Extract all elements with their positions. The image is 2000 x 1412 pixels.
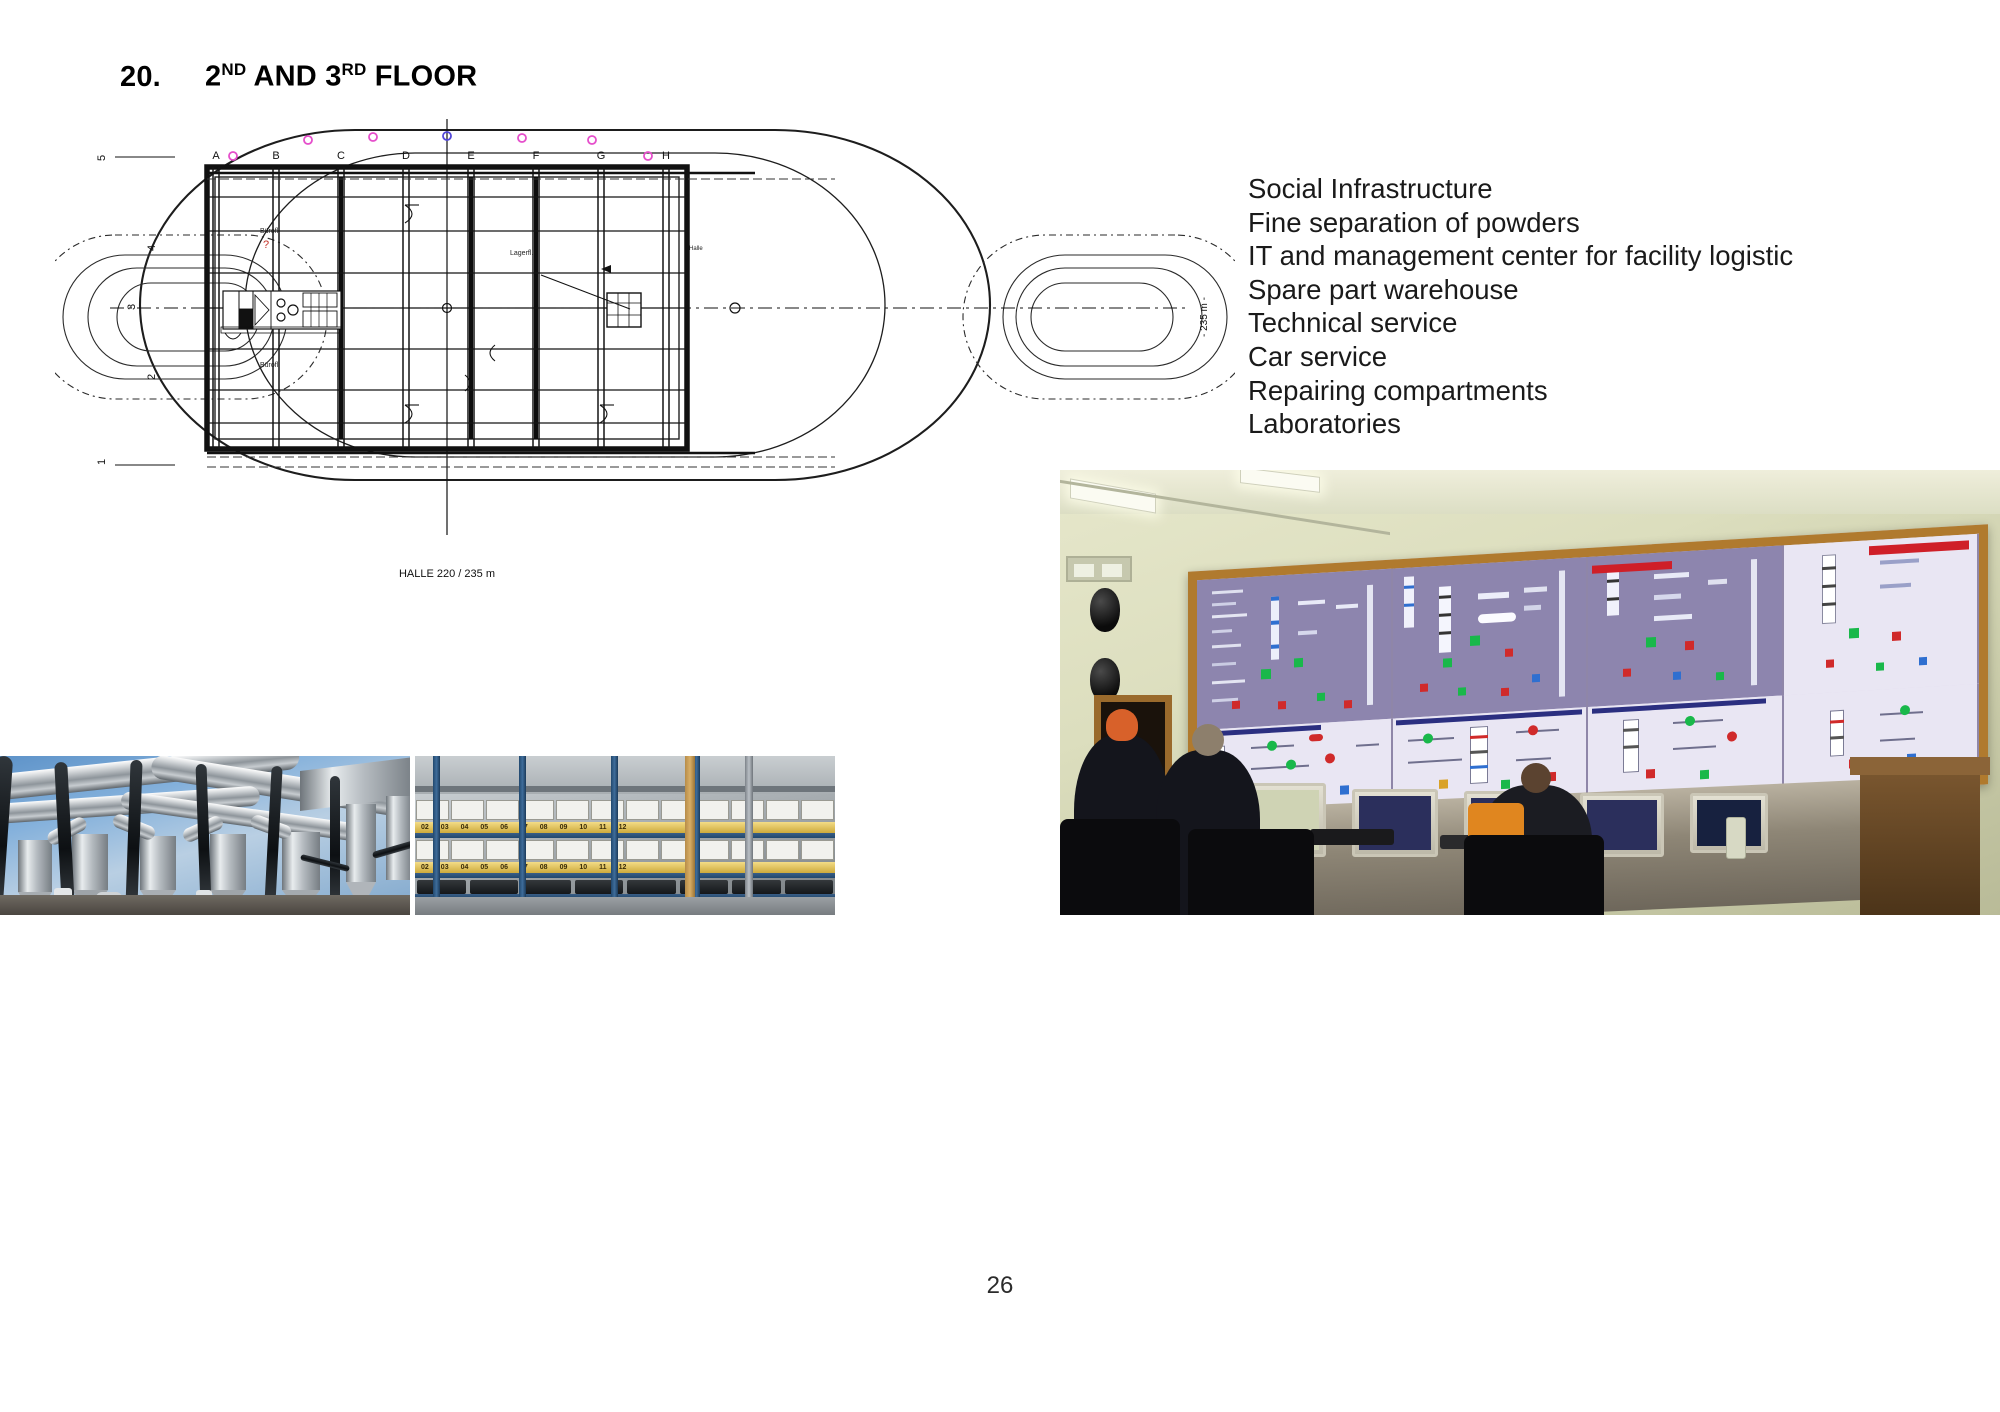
shelf-label: 02 (415, 864, 435, 871)
cyclone-body-6 (346, 804, 376, 882)
mimic-panel-1 (1197, 569, 1393, 731)
ground-surface (0, 895, 410, 915)
plan-vertical-dimension: - 235 m - (1199, 297, 1210, 337)
bin-card (486, 840, 519, 860)
svg-text:E: E (467, 150, 474, 162)
mimic-graphics-7 (1588, 696, 1782, 799)
shelf-label: 08 (534, 864, 554, 871)
page-title-conjunction: AND (246, 61, 325, 93)
bin-card (556, 800, 589, 820)
support-pipe-6 (330, 776, 340, 908)
page-title: 20.2ND AND 3RD FLOOR (120, 60, 477, 94)
bin-card (696, 800, 729, 820)
svg-text:Lagerfl.: Lagerfl. (510, 250, 533, 257)
bin-card (801, 800, 834, 820)
svg-text:C: C (337, 150, 345, 162)
bin-card (696, 840, 729, 860)
page-number: 26 (0, 1272, 2000, 1300)
shelf-label: 08 (534, 824, 554, 831)
svg-text:A: A (212, 150, 220, 162)
mimic-graphics-2 (1393, 557, 1587, 719)
mimic-graphics-1 (1197, 569, 1391, 731)
wall-speaker-1 (1090, 588, 1120, 632)
crate (785, 880, 834, 894)
feature-item-social-infrastructure: Social Infrastructure (1248, 172, 1868, 206)
shelf-label-strip-2: 02 03 04 05 06 07 08 09 10 11 12 (415, 862, 835, 873)
shelf-beam-1 (415, 833, 835, 838)
rack-upright-3 (611, 756, 618, 915)
page-title-number: 20. (120, 61, 205, 94)
operator-chair-3[interactable] (1464, 835, 1604, 915)
floor-plan-svg: Bürofl. Bürofl. Lagerfl. Halle ? (55, 105, 1235, 605)
operator-chair-1[interactable] (1060, 819, 1180, 915)
shelf-label: 11 (593, 824, 612, 831)
shelf-label: 11 (593, 864, 612, 871)
crate (627, 880, 676, 894)
feature-item-spare-part-warehouse: Spare part warehouse (1248, 273, 1868, 307)
shelf-label: 10 (573, 864, 593, 871)
bin-card (801, 840, 834, 860)
crate (470, 880, 519, 894)
mimic-panel-7 (1588, 695, 1784, 799)
bottle (1726, 817, 1746, 859)
svg-text:H: H (662, 150, 670, 162)
shelf-label: 10 (573, 824, 593, 831)
feature-item-car-service: Car service (1248, 340, 1868, 374)
rack-upright-2 (519, 756, 526, 915)
svg-text:F: F (533, 150, 540, 162)
crate-row-1 (415, 880, 835, 894)
cyclone-body-4 (210, 834, 246, 890)
cyclone-body-3 (140, 836, 176, 890)
operator-chair-2[interactable] (1188, 829, 1314, 915)
mimic-graphics-4 (1784, 534, 1978, 696)
svg-text:B: B (272, 150, 279, 162)
shelf-label: 06 (494, 824, 514, 831)
bin-card (451, 800, 484, 820)
bin-card (626, 840, 659, 860)
page-title-ordinal-2-suffix: ND (221, 60, 246, 79)
shelf-level-1: 02 03 04 05 06 07 08 09 10 11 12 (415, 800, 835, 836)
page-title-ordinal-2: 2 (205, 61, 221, 93)
operator-head-3 (1521, 763, 1551, 793)
page-title-ordinal-3-suffix: RD (342, 60, 367, 79)
crate (732, 880, 781, 894)
keyboard-1 (1310, 829, 1394, 845)
shelf-label: 06 (494, 864, 514, 871)
svg-text:1: 1 (96, 459, 108, 465)
svg-text:5: 5 (96, 155, 108, 161)
shelf-label: 05 (474, 864, 494, 871)
bin-card (556, 840, 589, 860)
bin-card (766, 800, 799, 820)
cabinet-top (1850, 757, 1990, 775)
svg-text:G: G (597, 150, 606, 162)
right-loop-centerlines (963, 235, 1235, 399)
operator-hardhat (1106, 709, 1138, 741)
page-title-word-floor: FLOOR (367, 61, 478, 93)
mimic-panel-4 (1784, 534, 1980, 696)
bin-card (591, 840, 624, 860)
row-label-column: 5 4 3 2 1 (96, 155, 175, 465)
crate (417, 880, 466, 894)
svg-text:3: 3 (126, 304, 138, 310)
bin-card (451, 840, 484, 860)
svg-text:Bürofl.: Bürofl. (260, 228, 280, 235)
svg-text:Halle: Halle (689, 246, 703, 252)
wall-control-box (1066, 556, 1132, 582)
cyclone-body-7 (386, 796, 410, 880)
photo-control-room (1060, 470, 2000, 915)
timber-post (685, 756, 695, 915)
shelf-level-2: 02 03 04 05 06 07 08 09 10 11 12 (415, 840, 835, 876)
svg-text:2: 2 (146, 374, 158, 380)
photo-cyclone-separators (0, 756, 410, 915)
rack-upright-5 (745, 756, 753, 915)
warehouse-floor (415, 897, 835, 915)
svg-text:Bürofl.: Bürofl. (260, 362, 280, 369)
feature-item-laboratories: Laboratories (1248, 407, 1868, 441)
side-cabinet (1860, 765, 1980, 915)
plan-caption: HALLE 220 / 235 m (399, 568, 495, 580)
roof-purlin (415, 786, 835, 792)
rack-upright-1 (433, 756, 440, 915)
cyclone-body-2 (72, 834, 108, 890)
bin-cards-1 (415, 800, 835, 820)
shelf-label: 04 (455, 824, 475, 831)
feature-item-technical-service: Technical service (1248, 306, 1868, 340)
cyclone-body-1 (18, 840, 52, 892)
shelf-label: 02 (415, 824, 435, 831)
shelf-label: 09 (554, 824, 574, 831)
svg-text:?: ? (263, 239, 269, 251)
survey-marker-dots (229, 132, 652, 160)
interior-machine-block (443, 265, 741, 327)
bin-card (486, 800, 519, 820)
shelf-label-strip-1: 02 03 04 05 06 07 08 09 10 11 12 (415, 822, 835, 833)
photo-spare-part-warehouse: 02 03 04 05 06 07 08 09 10 11 12 02 03 0… (415, 756, 835, 915)
mimic-graphics-3 (1588, 546, 1782, 708)
feature-list: Social Infrastructure Fine separation of… (1248, 172, 1868, 441)
shelf-level-3 (415, 880, 835, 894)
shelf-beam-2 (415, 873, 835, 878)
shelf-label: 09 (554, 864, 574, 871)
control-room-ceiling (1060, 470, 2000, 514)
feature-item-fine-separation-of-powders: Fine separation of powders (1248, 206, 1868, 240)
gauge-2 (1102, 564, 1122, 577)
page-title-ordinal-3: 3 (325, 61, 341, 93)
shelf-label: 05 (474, 824, 494, 831)
mimic-panel-2 (1393, 557, 1589, 719)
svg-text:D: D (402, 150, 410, 162)
svg-text:4: 4 (146, 245, 158, 251)
mimic-panel-3 (1588, 545, 1784, 707)
bin-cards-2 (415, 840, 835, 860)
floor-plan-drawing: Bürofl. Bürofl. Lagerfl. Halle ? (55, 105, 1235, 605)
bin-card (626, 800, 659, 820)
operator-monitor-2 (1352, 789, 1438, 857)
gauge-1 (1074, 564, 1094, 577)
crate (522, 880, 571, 894)
bin-card (766, 840, 799, 860)
operator-head-2 (1192, 724, 1224, 756)
feature-item-it-and-management-center: IT and management center for facility lo… (1248, 239, 1868, 273)
right-loop-tracks (1003, 255, 1227, 379)
column-label-row: AB CD EF GH (212, 150, 670, 162)
shelf-label: 04 (455, 864, 475, 871)
feature-item-repairing-compartments: Repairing compartments (1248, 374, 1868, 408)
bin-card (591, 800, 624, 820)
